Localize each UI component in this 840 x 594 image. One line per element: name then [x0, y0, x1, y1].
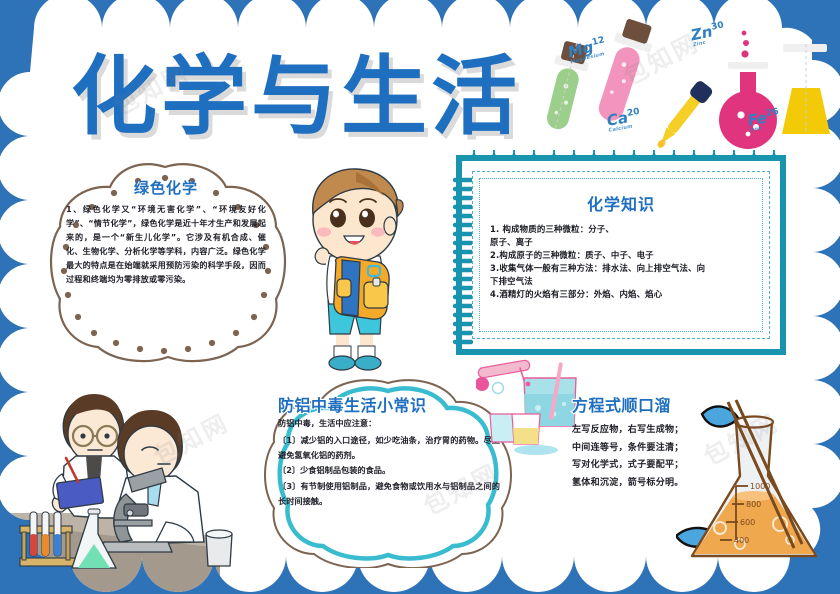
notebook-top-pins [462, 150, 792, 164]
notebook-inner-frame: 化学知识 1. 构成物质的三种微粒：分子、 原子、离子 2.构成原子的三种微粒：… [472, 171, 770, 339]
lead-safety-item: 〔1〕减少铝的入口途径，如少吃油条，治疗胃的药物。尽量避免氢氧化铝的药剂。 [278, 433, 500, 463]
knowledge-line: 3.收集气体一般有三种方法：排水法、向上排空气法、向 [490, 262, 752, 275]
dropper-icon [651, 79, 714, 153]
student-boy-illustration [286, 160, 422, 378]
page-title-text: 化学与生活 [71, 26, 521, 151]
test-tube-rack-icon [20, 512, 76, 566]
lead-safety-title: 防铝中毒生活小常识 [278, 392, 500, 416]
scientists-illustration [6, 382, 256, 582]
round-bottom-flask-icon [719, 31, 777, 149]
large-erlenmeyer-flask-illustration: 1000 800 600 400 [676, 398, 836, 576]
beaker-grey-icon [206, 530, 232, 566]
page-title: 化学与生活 [46, 34, 546, 142]
beaker-yellow-icon [782, 44, 830, 134]
knowledge-line: 4.酒精灯的火焰有三部分：外焰、内焰、焰心 [490, 288, 752, 301]
chemistry-knowledge-notebook: 化学知识 1. 构成物质的三种微粒：分子、 原子、离子 2.构成原子的三种微粒：… [456, 155, 786, 355]
poster-canvas: 化学与生活 [0, 0, 840, 594]
notebook-text-area: 化学知识 1. 构成物质的三种微粒：分子、 原子、离子 2.构成原子的三种微粒：… [479, 178, 763, 332]
test-tube-green-icon [539, 39, 593, 133]
flask-grad-600: 600 [740, 518, 755, 527]
flask-grad-400: 400 [734, 536, 749, 545]
green-chemistry-title: 绿色化学 [134, 177, 198, 198]
green-chemistry-body: 1、绿色化学又“环境无害化学”、“环境友好化学”、“情节化学”，绿色化学是近十年… [66, 203, 266, 286]
lab-glassware-illustration [520, 10, 830, 160]
chemistry-knowledge-title: 化学知识 [490, 191, 752, 215]
knowledge-line: 2.构成原子的三种微粒：质子、中子、电子 [490, 249, 752, 262]
knowledge-line: 1. 构成物质的三种微粒：分子、 [490, 223, 752, 236]
lead-safety-item: 〔2〕少食铝制品包装的食品。 [278, 463, 500, 478]
green-chemistry-panel: 绿色化学 1、绿色化学又“环境无害化学”、“环境友好化学”、“情节化学”，绿色化… [40, 163, 290, 363]
test-tube-pink-icon [590, 16, 658, 126]
lead-safety-item: 〔3〕有节制使用铝制品，避免食物或饮用水与铝制品之间的长时间接触。 [278, 479, 500, 509]
knowledge-line: 原子、离子 [490, 236, 752, 249]
lead-safety-intro: 防铝中毒，生活中应注意： [278, 417, 500, 429]
knowledge-line: 下排空气法 [490, 275, 752, 288]
notebook-spiral-binding [453, 175, 473, 347]
flask-grad-800: 800 [746, 500, 761, 509]
